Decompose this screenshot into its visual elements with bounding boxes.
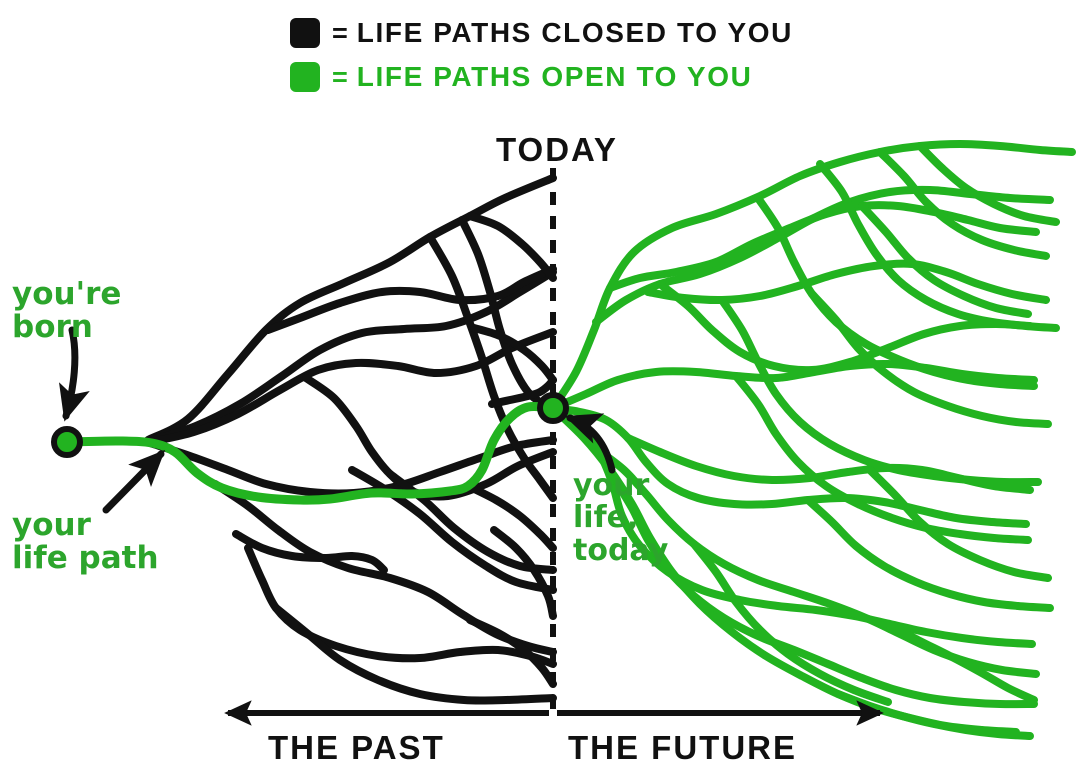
today-node — [540, 395, 566, 421]
black-square-swatch — [290, 18, 320, 48]
life-paths-layer — [67, 144, 1072, 736]
life-path-future-open-14 — [553, 408, 1016, 732]
life-path-arrow — [106, 454, 161, 510]
life-paths-diagram: = LIFE PATHS CLOSED TO YOU = LIFE PATHS … — [0, 0, 1080, 779]
born-label: you're born — [12, 278, 121, 345]
legend-label-closed: LIFE PATHS CLOSED TO YOU — [357, 19, 793, 47]
diagram-canvas — [0, 0, 1080, 779]
legend-label-open: LIFE PATHS OPEN TO YOU — [357, 63, 753, 91]
legend-item-closed: = LIFE PATHS CLOSED TO YOU — [290, 18, 793, 48]
birth-node — [54, 429, 80, 455]
past-label: THE PAST — [268, 731, 445, 764]
future-label: THE FUTURE — [568, 731, 797, 764]
today-label: TODAY — [496, 133, 618, 166]
legend-item-open: = LIFE PATHS OPEN TO YOU — [290, 62, 752, 92]
legend-equals-closed: = — [332, 20, 348, 47]
green-square-swatch — [290, 62, 320, 92]
today-life-label: your life, today — [573, 470, 668, 567]
life-path-label: your life path — [12, 509, 159, 576]
legend-equals-open: = — [332, 64, 348, 91]
